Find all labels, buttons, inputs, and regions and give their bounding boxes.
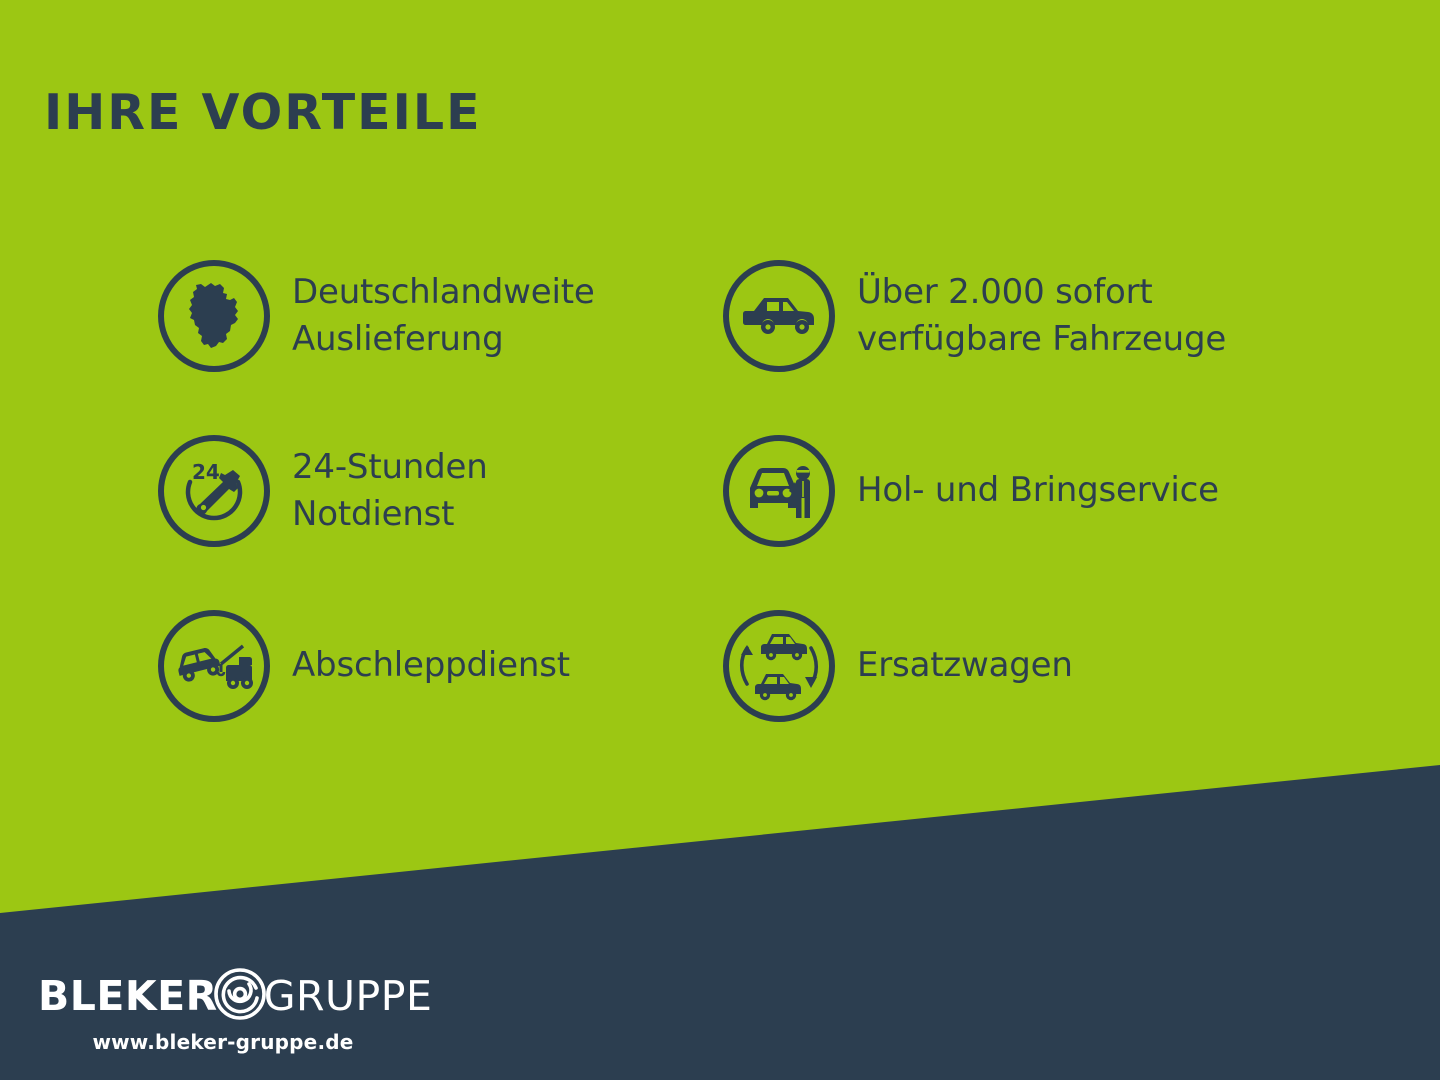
company-logo[interactable]: BLEKER GRUPPE www.bleker-gruppe.de (38, 968, 408, 1054)
benefit-label: Abschleppdienst (292, 642, 570, 688)
spiral-logo-icon (212, 966, 268, 1026)
benefit-item-ersatzwagen[interactable]: Ersatzwagen (718, 578, 1278, 753)
slide-canvas: IHRE VORTEILE Deutschlandweite Ausliefer… (0, 0, 1440, 1080)
page-title: IHRE VORTEILE (44, 88, 482, 137)
logo-wordmark: BLEKER GRUPPE (38, 968, 408, 1024)
tow-truck-icon (158, 610, 270, 722)
benefits-grid: Deutschlandweite Auslieferung Über 2.000… (158, 228, 1338, 753)
benefit-item-24-stunden-notdienst[interactable]: 24 24-Stunden Notdienst (158, 403, 718, 578)
germany-map-icon (158, 260, 270, 372)
benefit-label: Hol- und Bringservice (857, 467, 1219, 513)
logo-name-bold: BLEKER (38, 976, 218, 1017)
car-exchange-icon (723, 610, 835, 722)
benefit-label: Deutschlandweite Auslieferung (292, 269, 595, 361)
benefit-item-hol-und-bringservice[interactable]: Hol- und Bringservice (718, 403, 1278, 578)
car-with-driver-icon (723, 435, 835, 547)
benefit-label: 24-Stunden Notdienst (292, 444, 488, 536)
24-hour-wrench-icon: 24 (158, 435, 270, 547)
benefit-item-verfuegbare-fahrzeuge[interactable]: Über 2.000 sofort verfügbare Fahrzeuge (718, 228, 1278, 403)
benefit-item-abschleppdienst[interactable]: Abschleppdienst (158, 578, 718, 753)
benefit-label: Über 2.000 sofort verfügbare Fahrzeuge (857, 269, 1226, 361)
benefit-label: Ersatzwagen (857, 642, 1073, 688)
24-badge-text: 24 (192, 460, 220, 484)
car-side-icon (723, 260, 835, 372)
logo-name-regular: GRUPPE (264, 976, 433, 1017)
benefit-item-deutschlandweite-auslieferung[interactable]: Deutschlandweite Auslieferung (158, 228, 718, 403)
logo-website-url[interactable]: www.bleker-gruppe.de (38, 1030, 408, 1054)
